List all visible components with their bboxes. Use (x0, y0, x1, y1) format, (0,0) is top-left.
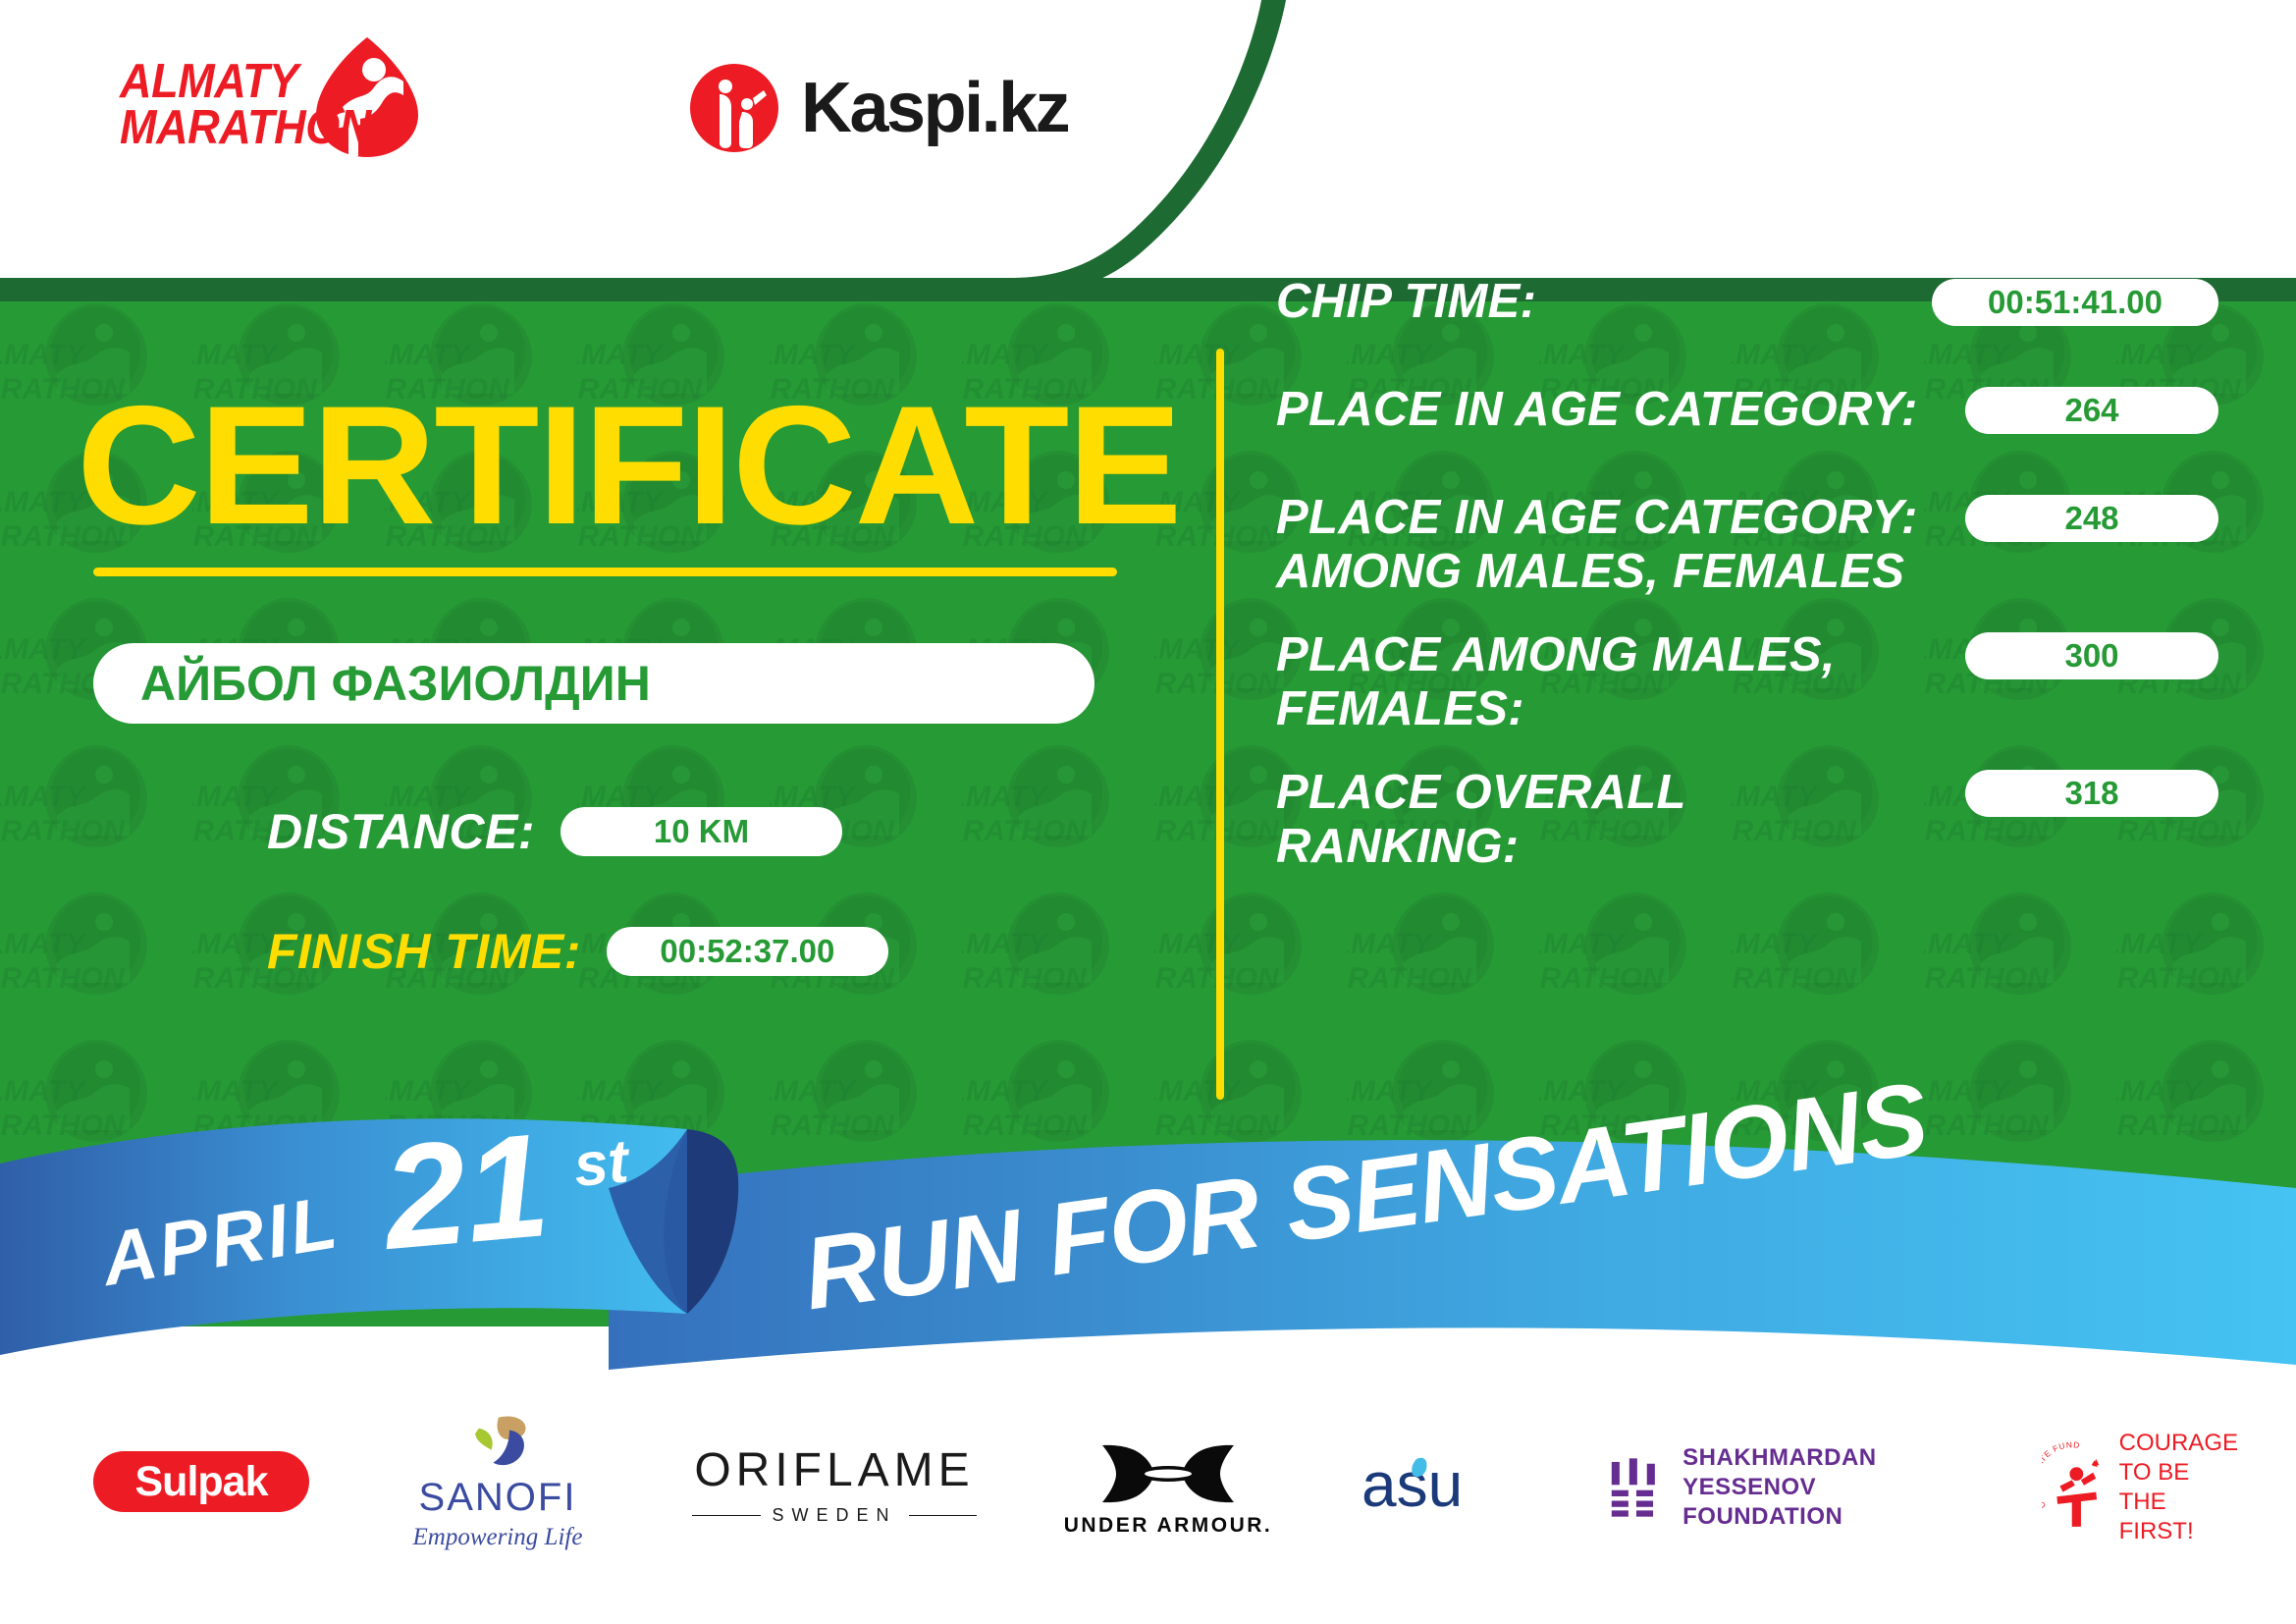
sponsor-sulpak[interactable]: Sulpak (93, 1451, 309, 1512)
sponsor-bar: Sulpak SANOFI Empowering Life ORIFLAME S… (0, 1404, 2296, 1624)
finish-time-value-pill: 00:52:37.00 (607, 927, 888, 976)
result-row-place-age-category-among: PLACE IN AGE CATEGORY:AMONG MALES, FEMAL… (1276, 491, 2218, 599)
marathon-line: MARATHON (120, 105, 371, 151)
kaspi-logo[interactable]: Kaspi.kz (687, 61, 1068, 155)
kaspi-figures-icon (687, 61, 781, 155)
asu-wordmark-icon: asu (1360, 1445, 1526, 1524)
courage-line2: TO BE (2119, 1458, 2238, 1488)
header-logos: ALMATY MARATHON Kaspi.kz (0, 0, 1227, 275)
rule-right (909, 1515, 978, 1517)
result-value: 00:51:41.00 (1988, 284, 2163, 321)
title-underline (93, 568, 1117, 576)
courage-figure-icon: CORPORATE FUND (2042, 1429, 2111, 1546)
courage-label: COURAGE TO BE THE FIRST! (2119, 1429, 2238, 1546)
sulpak-pill: Sulpak (93, 1451, 309, 1512)
yessenov-line1: SHAKHMARDAN YESSENOV (1682, 1443, 1983, 1502)
result-value: 248 (2064, 500, 2118, 537)
under-armour-label: UNDER ARMOUR. (1064, 1514, 1273, 1538)
under-armour-icon (1095, 1441, 1242, 1506)
result-value-pill: 318 (1965, 770, 2218, 817)
finish-time-value: 00:52:37.00 (660, 933, 834, 970)
distance-value: 10 KM (654, 813, 749, 850)
sponsor-under-armour[interactable]: UNDER ARMOUR. (1055, 1435, 1281, 1543)
distance-row: DISTANCE: 10 KM (267, 803, 842, 860)
event-ribbon (0, 1070, 2296, 1414)
certificate-card: ALMATY MARATHON (0, 0, 2296, 1624)
participant-name: АЙБОЛ ФАЗИОЛДИН (140, 655, 651, 712)
result-label: PLACE IN AGE CATEGORY:AMONG MALES, FEMAL… (1276, 491, 1918, 599)
oriflame-sub: SWEDEN (692, 1505, 977, 1526)
result-label: PLACE OVERALL RANKING: (1276, 766, 1924, 874)
almaty-marathon-wordmark: ALMATY MARATHON (120, 59, 371, 151)
kaspi-wordmark: Kaspi.kz (801, 68, 1068, 148)
sponsor-yessenov-foundation[interactable]: SHAKHMARDAN YESSENOV FOUNDATION (1610, 1438, 1983, 1537)
rule-left (692, 1515, 761, 1517)
oriflame-tagline: SWEDEN (773, 1505, 897, 1526)
result-value: 264 (2064, 392, 2118, 429)
result-value: 300 (2064, 637, 2118, 675)
result-value-pill: 300 (1965, 632, 2218, 679)
result-row-place-age-category: PLACE IN AGE CATEGORY: 264 (1276, 383, 2218, 437)
sanofi-tagline: Empowering Life (413, 1524, 583, 1551)
vertical-divider (1216, 349, 1224, 1100)
yessenov-bars-icon (1610, 1455, 1661, 1520)
result-row-place-among-males-females: PLACE AMONG MALES,FEMALES: 300 (1276, 628, 2218, 736)
result-value: 318 (2064, 775, 2118, 812)
oriflame-label: ORIFLAME (694, 1443, 974, 1497)
sponsor-courage-fund[interactable]: CORPORATE FUND COURAGE TO BE THE FIRST! (2042, 1424, 2238, 1551)
result-label: PLACE IN AGE CATEGORY: (1276, 383, 1918, 437)
courage-line3: THE FIRST! (2119, 1488, 2238, 1546)
result-value-pill: 00:51:41.00 (1932, 279, 2218, 326)
sanofi-leaf-icon (459, 1414, 536, 1470)
result-label: PLACE AMONG MALES,FEMALES: (1276, 628, 1836, 736)
result-value-pill: 264 (1965, 387, 2218, 434)
finish-time-label: FINISH TIME: (267, 923, 581, 980)
sponsor-sanofi[interactable]: SANOFI Empowering Life (385, 1414, 611, 1551)
sanofi-label: SANOFI (419, 1476, 577, 1520)
page-title: CERTIFICATE (77, 381, 1180, 550)
sulpak-label: Sulpak (135, 1458, 268, 1506)
svg-text:asu: asu (1362, 1449, 1463, 1520)
distance-label: DISTANCE: (267, 803, 535, 860)
yessenov-line2: FOUNDATION (1682, 1502, 1983, 1532)
finish-time-row: FINISH TIME: 00:52:37.00 (267, 923, 888, 980)
almaty-marathon-logo[interactable]: ALMATY MARATHON (120, 47, 424, 165)
almaty-line: ALMATY (120, 59, 371, 105)
result-row-place-overall-ranking: PLACE OVERALL RANKING: 318 (1276, 766, 2218, 874)
yessenov-label: SHAKHMARDAN YESSENOV FOUNDATION (1682, 1443, 1983, 1532)
sponsor-asu[interactable]: asu (1360, 1445, 1526, 1524)
result-value-pill: 248 (1965, 495, 2218, 542)
participant-name-field: АЙБОЛ ФАЗИОЛДИН (93, 643, 1095, 724)
sponsor-oriflame[interactable]: ORIFLAME SWEDEN (687, 1445, 982, 1524)
distance-value-pill: 10 KM (561, 807, 842, 856)
courage-line1: COURAGE (2119, 1429, 2238, 1458)
